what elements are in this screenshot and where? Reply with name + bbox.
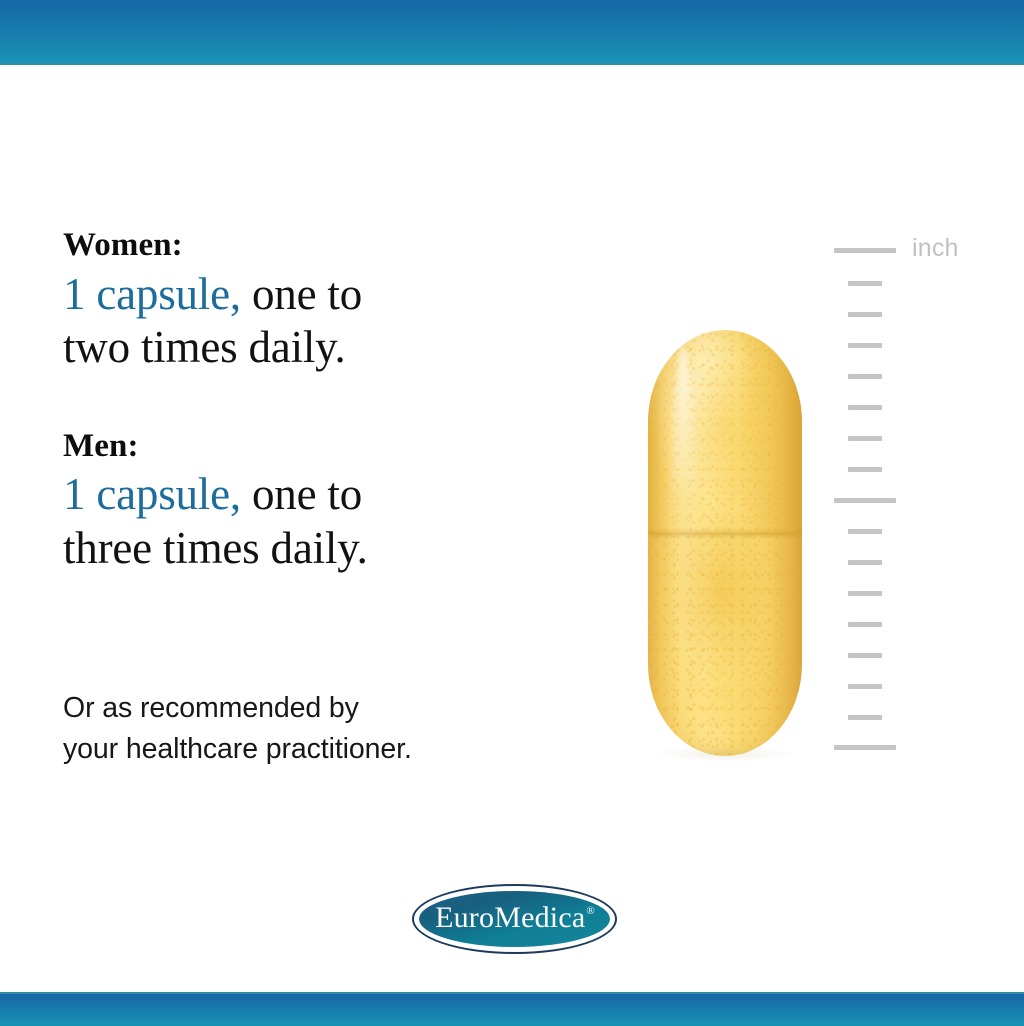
dosage-women-amount: 1 capsule,: [63, 269, 241, 319]
ruler-tick-2: [848, 312, 882, 317]
practitioner-note: Or as recommended by your healthcare pra…: [63, 688, 583, 770]
ruler-tick-12: [848, 622, 882, 627]
ruler-tick-0: [834, 248, 896, 253]
bottom-brand-bar: [0, 992, 1024, 1026]
inch-ruler: inch: [834, 248, 904, 752]
dosage-women-block: Women: 1 capsule, one to two times daily…: [63, 228, 593, 375]
ruler-tick-9: [848, 529, 882, 534]
ruler-tick-8: [834, 498, 896, 503]
top-brand-bar: [0, 0, 1024, 65]
dosage-women-heading: Women:: [63, 228, 593, 264]
dosage-women-line-1: 1 capsule, one to: [63, 268, 593, 322]
dosage-men-rest: one to: [241, 469, 362, 519]
logo-outer-ring: EuroMedica®: [412, 884, 617, 954]
ruler-tick-4: [848, 374, 882, 379]
ruler-tick-6: [848, 436, 882, 441]
dosage-women-rest: one to: [241, 269, 362, 319]
registered-trademark-icon: ®: [586, 905, 595, 917]
ruler-tick-5: [848, 405, 882, 410]
dosage-men-line-1: 1 capsule, one to: [63, 468, 593, 522]
practitioner-note-line-1: Or as recommended by: [63, 692, 359, 724]
ruler-tick-7: [848, 467, 882, 472]
ruler-tick-10: [848, 560, 882, 565]
dosage-women-line-2: two times daily.: [63, 321, 593, 375]
ruler-tick-14: [848, 684, 882, 689]
ruler-tick-16: [834, 745, 896, 750]
ruler-tick-15: [848, 715, 882, 720]
capsule-shadow: [654, 746, 796, 762]
logo-name: EuroMedica: [435, 901, 585, 934]
dosage-men-block: Men: 1 capsule, one to three times daily…: [63, 429, 593, 576]
ruler-tick-13: [848, 653, 882, 658]
ruler-tick-11: [848, 591, 882, 596]
dosage-instructions: Women: 1 capsule, one to two times daily…: [63, 228, 593, 605]
capsule-body: [648, 330, 802, 756]
dosage-men-line-2: three times daily.: [63, 522, 593, 576]
capsule-highlight: [670, 347, 696, 730]
capsule-image: [648, 330, 802, 756]
ruler-tick-1: [848, 281, 882, 286]
practitioner-note-line-2: your healthcare practitioner.: [63, 733, 412, 765]
euromedica-logo: EuroMedica®: [412, 884, 617, 954]
logo-face: EuroMedica®: [419, 891, 610, 947]
ruler-unit-label: inch: [912, 234, 959, 263]
dosage-men-amount: 1 capsule,: [63, 469, 241, 519]
logo-wordmark: EuroMedica®: [435, 903, 594, 933]
logo-white-ring: EuroMedica®: [414, 886, 615, 952]
ruler-tick-3: [848, 343, 882, 348]
dosage-men-heading: Men:: [63, 429, 593, 465]
